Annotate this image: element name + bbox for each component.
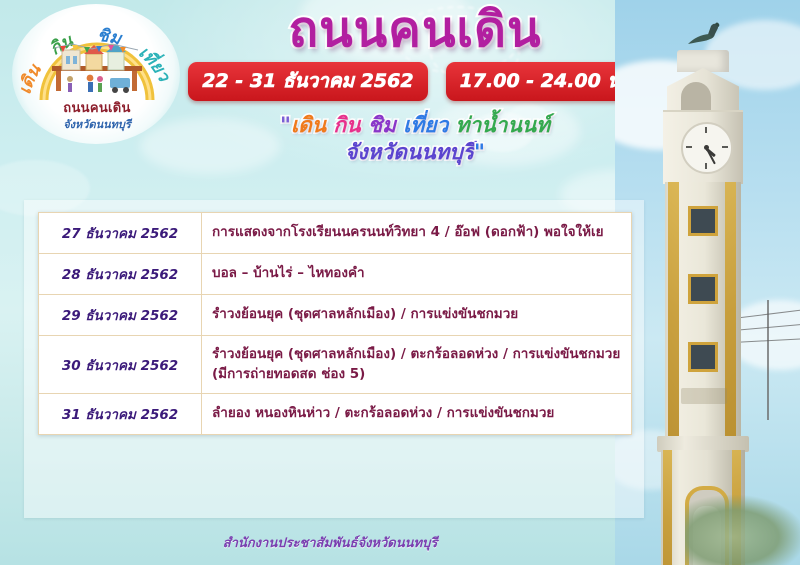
clock-tick (705, 163, 707, 169)
tower-window-panel (688, 274, 718, 304)
base-gold-band-left (663, 450, 672, 565)
schedule-detail: ลำยอง หนองหินห่าว / ตะกร้อลอดห่วง / การแ… (202, 394, 632, 435)
tower-gold-band-left (668, 182, 679, 442)
quote-close: " (474, 140, 485, 164)
foliage (685, 495, 800, 565)
schedule-table: 27 ธันวาคม 2562 การแสดงจากโรงเรียนนครนนท… (38, 212, 632, 435)
table-row: 28 ธันวาคม 2562 บอล – บ้านไร่ – ไหทองคำ (39, 254, 632, 295)
schedule-date: 28 ธันวาคม 2562 (39, 254, 202, 295)
tower-window-panel (688, 342, 718, 372)
subtitle-word-1: เดิน (291, 113, 326, 137)
schedule-date: 30 ธันวาคม 2562 (39, 336, 202, 394)
schedule-detail: รำวงย้อนยุค (ชุดศาลหลักเมือง) / ตะกร้อลอ… (202, 336, 632, 394)
schedule-date: 31 ธันวาคม 2562 (39, 394, 202, 435)
bird-statue-icon (685, 22, 731, 50)
date-time-row: 22 - 31 ธันวาคม 2562 17.00 - 24.00 น. (190, 62, 640, 101)
event-poster: เดิน กิน ชิม เที่ยว (0, 0, 800, 565)
clock-face (681, 122, 733, 174)
tower-clock-housing (663, 110, 743, 184)
schedule-detail: บอล – บ้านไร่ – ไหทองคำ (202, 254, 632, 295)
tower-shaft (665, 182, 741, 442)
table-row: 30 ธันวาคม 2562 รำวงย้อนยุค (ชุดศาลหลักเ… (39, 336, 632, 394)
table-row: 31 ธันวาคม 2562 ลำยอง หนองหินห่าว / ตะกร… (39, 394, 632, 435)
clock-tick (722, 146, 728, 148)
subtitle-word-2: กิน (333, 113, 360, 137)
date-badge: 22 - 31 ธันวาคม 2562 (188, 62, 427, 101)
quote-open: " (280, 113, 291, 137)
clock-tower (651, 24, 755, 565)
utility-pole (767, 300, 769, 420)
subtitle-word-5: ท่าน้ำนนท์ (456, 113, 550, 137)
subtitle-word-3: ชิม (368, 113, 396, 137)
logo-province: จังหวัดนนทบุรี (8, 115, 186, 133)
tower-window-panel (688, 206, 718, 236)
tower-arch-niche (681, 82, 711, 112)
headline-block: ถนนคนเดิน 22 - 31 ธันวาคม 2562 17.00 - 2… (190, 6, 640, 165)
clock-tick (705, 127, 707, 133)
subtitle-province: จังหวัดนนทบุรี (345, 140, 474, 164)
schedule-date: 27 ธันวาคม 2562 (39, 213, 202, 254)
page-title: ถนนคนเดิน (190, 6, 640, 54)
subtitle-line-1: "เดิน กิน ชิม เที่ยว ท่าน้ำนนท์ (190, 113, 640, 138)
time-badge: 17.00 - 24.00 น. (446, 62, 642, 101)
clock-tick (686, 146, 692, 148)
market-stalls-illustration (46, 42, 148, 102)
schedule-detail: รำวงย้อนยุค (ชุดศาลหลักเมือง) / การแข่งข… (202, 295, 632, 336)
subtitle-word-4: เที่ยว (403, 113, 448, 137)
subtitle-line-2: จังหวัดนนทบุรี" (190, 140, 640, 165)
table-row: 29 ธันวาคม 2562 รำวงย้อนยุค (ชุดศาลหลักเ… (39, 295, 632, 336)
tower-plaque (681, 388, 727, 404)
clock-center-dot (704, 145, 709, 150)
event-logo: เดิน กิน ชิม เที่ยว (8, 2, 186, 152)
schedule-detail: การแสดงจากโรงเรียนนครนนท์วิทยา 4 / อ๊อฟ … (202, 213, 632, 254)
schedule-date: 29 ธันวาคม 2562 (39, 295, 202, 336)
table-row: 27 ธันวาคม 2562 การแสดงจากโรงเรียนนครนนท… (39, 213, 632, 254)
footer-credit: สำนักงานประชาสัมพันธ์จังหวัดนนทบุรี (0, 532, 660, 553)
